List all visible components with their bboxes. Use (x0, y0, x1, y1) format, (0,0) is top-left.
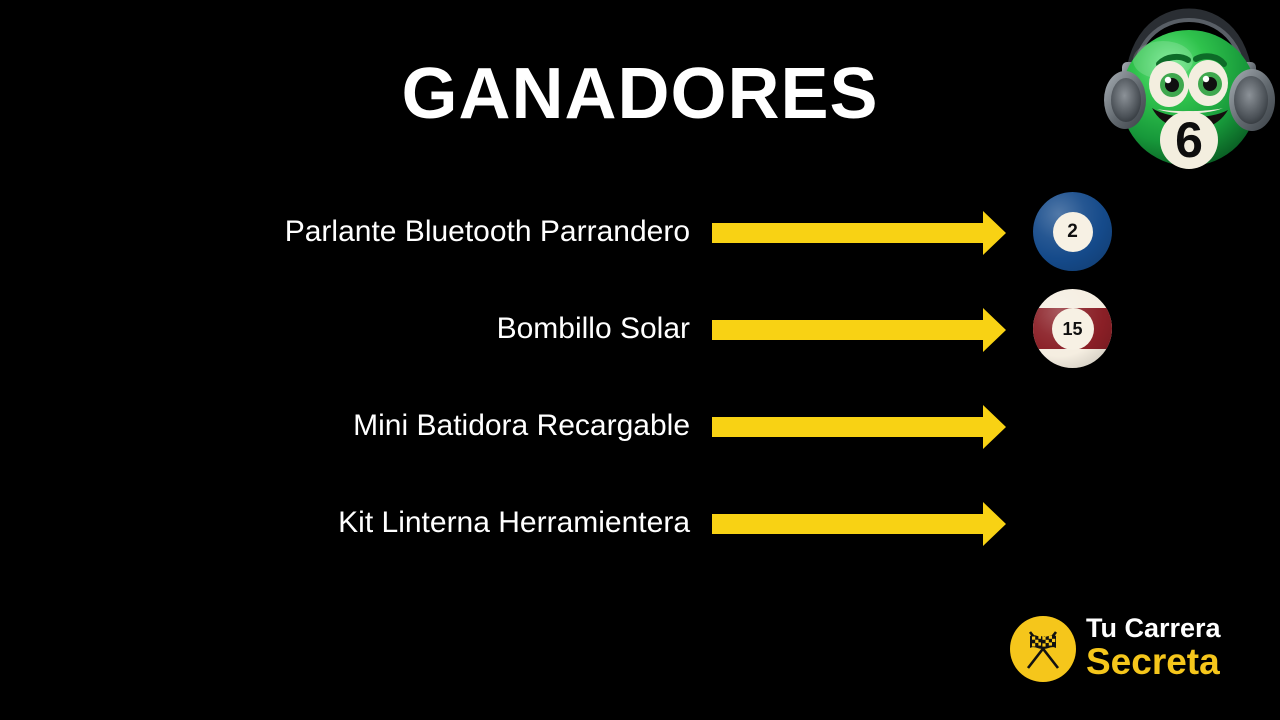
slide-canvas: GANADORES Parlante Bluetooth Parrandero … (0, 0, 1280, 720)
winner-row: Bombillo Solar 15 (0, 293, 1280, 390)
ball-number: 2 (1053, 212, 1093, 252)
winner-label: Mini Batidora Recargable (170, 406, 690, 446)
yellow-arrow-right-icon (712, 308, 1006, 352)
ball-badge-15: 15 (1033, 289, 1112, 368)
yellow-arrow-right-icon (712, 405, 1006, 449)
brand-wordmark: Tu Carrera Secreta (1086, 612, 1258, 682)
winner-label: Parlante Bluetooth Parrandero (170, 212, 690, 252)
winner-row: Parlante Bluetooth Parrandero 2 (0, 196, 1280, 293)
page-title: GANADORES (0, 58, 1280, 130)
brand-logo: Tu Carrera Secreta (1010, 612, 1258, 688)
brand-line-1: Tu Carrera (1086, 612, 1258, 644)
yellow-arrow-right-icon (712, 211, 1006, 255)
svg-text:6: 6 (1175, 112, 1203, 168)
ball-badge-2: 2 (1033, 192, 1112, 271)
winner-row: Kit Linterna Herramientera (0, 487, 1280, 584)
ball-number: 15 (1052, 308, 1094, 350)
yellow-arrow-right-icon (712, 502, 1006, 546)
crossed-checkered-flags-icon (1010, 616, 1076, 682)
winners-list: Parlante Bluetooth Parrandero 2 Bombillo… (0, 196, 1280, 584)
winner-label: Bombillo Solar (170, 309, 690, 349)
winner-label: Kit Linterna Herramientera (170, 503, 690, 543)
brand-line-2: Secreta (1086, 642, 1258, 682)
winner-row: Mini Batidora Recargable (0, 390, 1280, 487)
mascot-green-ball-6-headphones-icon: 6 (1100, 4, 1278, 176)
